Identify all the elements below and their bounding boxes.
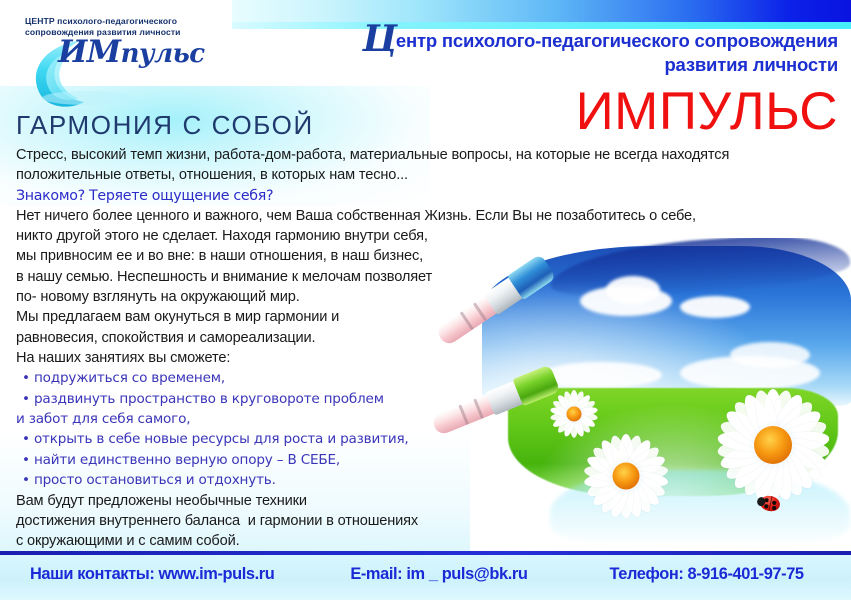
list-item: • раздвинуть пространство в круговороте …: [16, 389, 840, 409]
paragraph-line: На наших занятиях вы сможете:: [16, 348, 840, 368]
footer-contacts-row: Наши контакты: www.im-puls.ru E-mail: im…: [0, 560, 851, 588]
header-drop-cap: Ц: [362, 18, 397, 60]
brand-name: ИМПУЛЬС: [286, 84, 838, 140]
paragraph-line: никто другой этого не сделает. Находя га…: [16, 226, 840, 246]
list-item: • подружиться со временем,: [16, 368, 840, 388]
paragraph-line: Нет ничего более ценного и важного, чем …: [16, 206, 840, 226]
logo: ЦЕНТР психолого-педагогического сопровож…: [18, 16, 228, 108]
page-title: ГАРМОНИЯ С СОБОЙ: [16, 110, 314, 140]
paragraph-line: с окружающими и с самим собой.: [16, 531, 840, 551]
top-gradient-strip: [232, 0, 851, 22]
list-item: • просто остановиться и отдохнуть.: [16, 470, 840, 490]
paragraph-line: равновесия, спокойствия и самореализации…: [16, 328, 840, 348]
benefits-list: • подружиться со временем, • раздвинуть …: [16, 368, 840, 490]
accent-question: Знакомо? Теряете ощущение себя?: [16, 186, 840, 206]
footer-phone[interactable]: Телефон: 8-916-401-97-75: [609, 565, 803, 584]
list-item: • найти единственно верную опору – В СЕБ…: [16, 450, 840, 470]
paragraph-line: достижения внутреннего баланса и гармони…: [16, 511, 840, 531]
header-title-block: Центр психолого-педагогического сопровож…: [286, 30, 838, 78]
logo-tagline-line1: ЦЕНТР психолого-педагогического: [25, 16, 221, 27]
paragraph-line: Вам будут предложены необычные техники: [16, 491, 840, 511]
paragraph-line: по- новому взглянуть на окружающий мир.: [16, 287, 840, 307]
list-item-continuation: и забот для себя самого,: [16, 409, 840, 429]
paragraph-line: Стресс, высокий темп жизни, работа-дом-р…: [16, 145, 840, 165]
body-copy: Стресс, высокий темп жизни, работа-дом-р…: [16, 145, 840, 552]
paragraph-line: мы привносим ее и во вне: в наши отношен…: [16, 246, 840, 266]
header-title-line1-text: ентр психолого-педагогического сопровожд…: [396, 30, 838, 51]
poster-root: ЦЕНТР психолого-педагогического сопровож…: [0, 0, 851, 600]
paragraph-line: в нашу семью. Неспешность и внимание к м…: [16, 267, 840, 287]
header-title-line1: Центр психолого-педагогического сопровож…: [286, 30, 838, 52]
logo-wordmark: ИМпульс: [58, 34, 205, 70]
paragraph-line: положительные ответы, отношения, в котор…: [16, 165, 840, 185]
footer-website[interactable]: Наши контакты: www.im-puls.ru: [30, 565, 274, 584]
logo-wordmark-rest: пульс: [121, 39, 205, 69]
paragraph-line: Мы предлагаем вам окунуться в мир гармон…: [16, 307, 840, 327]
top-cyan-band: [232, 22, 851, 29]
footer-email[interactable]: E-mail: im _ puls@bk.ru: [350, 565, 527, 584]
list-item: • открыть в себе новые ресурсы для роста…: [16, 429, 840, 449]
logo-wordmark-initials: ИМ: [58, 34, 121, 70]
